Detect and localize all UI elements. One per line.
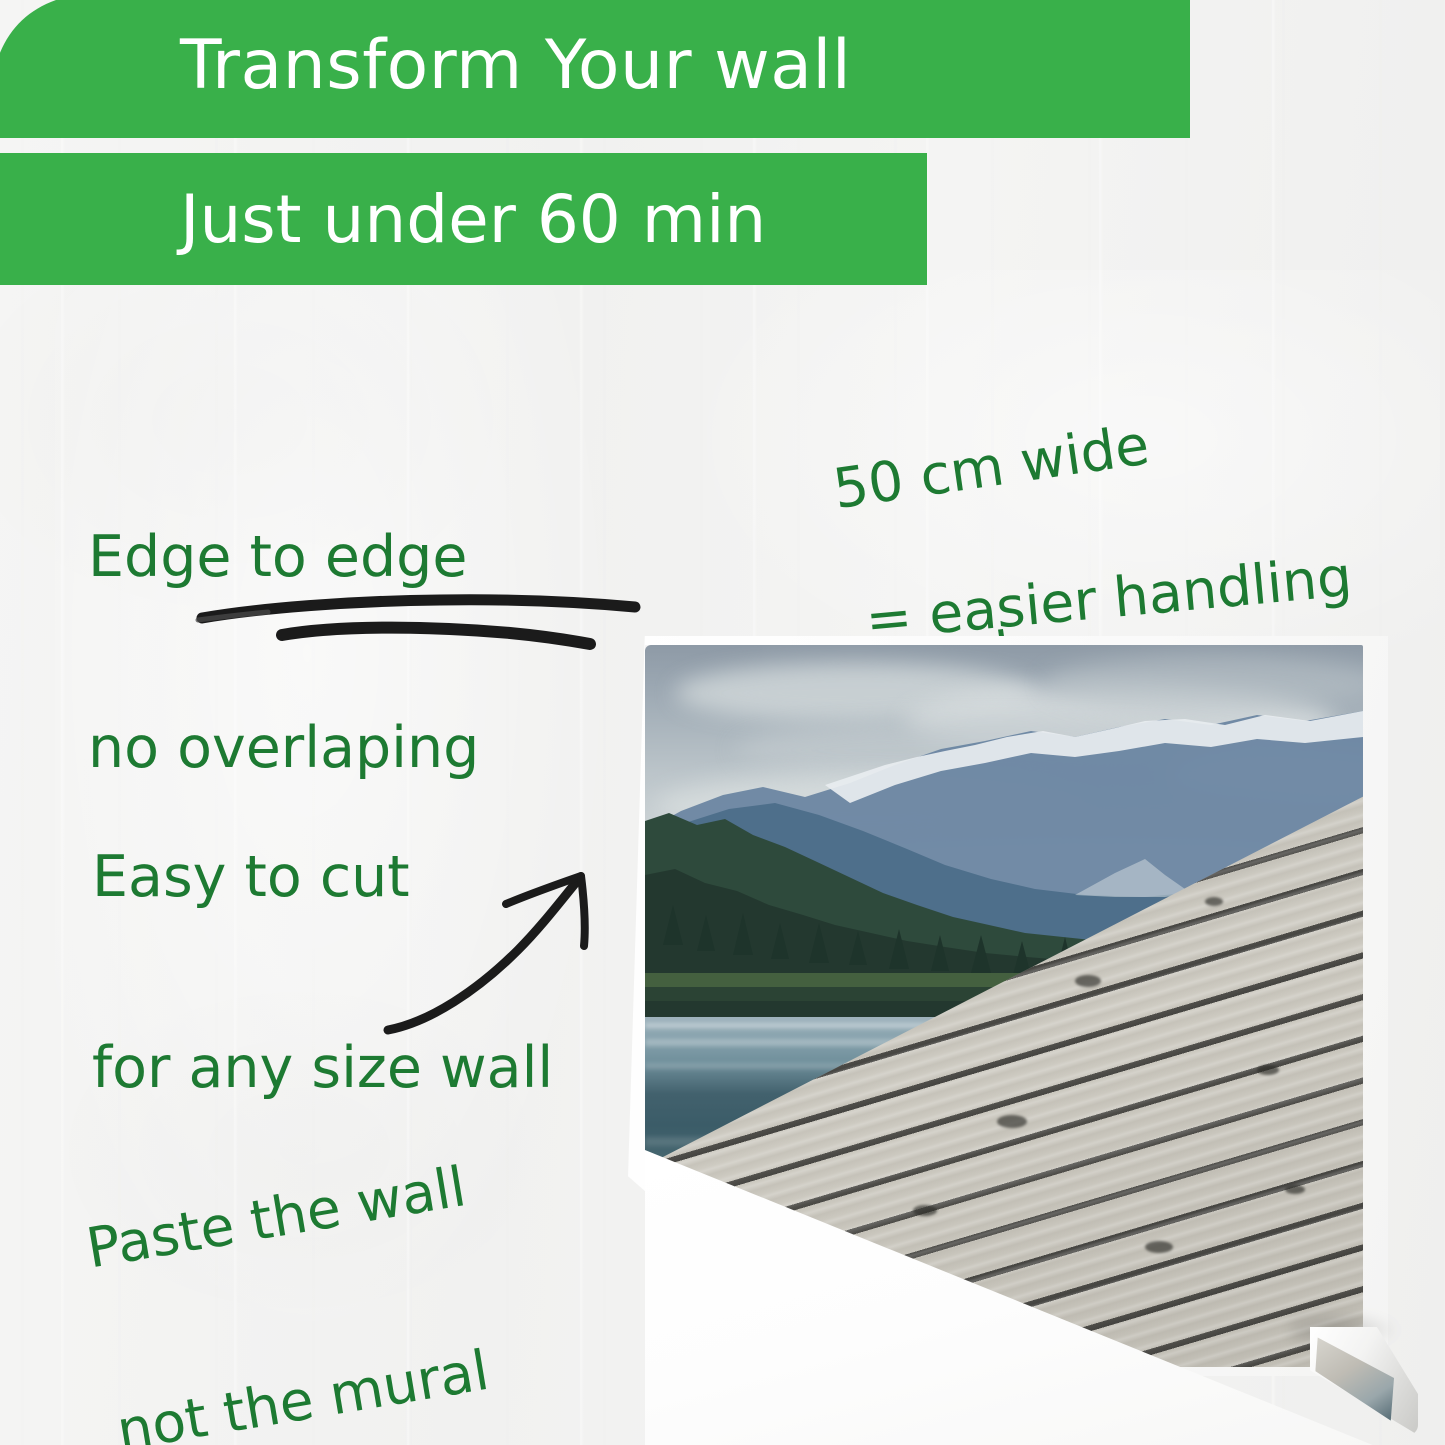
headline-banner-text: Transform Your wall (180, 26, 851, 105)
poster-canvas: Transform Your wall Just under 60 min Ed… (0, 0, 1445, 1445)
headline-banner: Transform Your wall (0, 0, 1190, 138)
underline-scribble-icon (190, 578, 650, 673)
subheadline-banner: Just under 60 min (0, 153, 927, 285)
callout-paste-line2: not the mural (113, 1339, 501, 1445)
mural-curl (1310, 1327, 1418, 1435)
curved-arrow-icon (378, 862, 618, 1062)
subheadline-banner-text: Just under 60 min (180, 181, 766, 258)
callout-paste-line1: Paste the wall (82, 1156, 470, 1280)
